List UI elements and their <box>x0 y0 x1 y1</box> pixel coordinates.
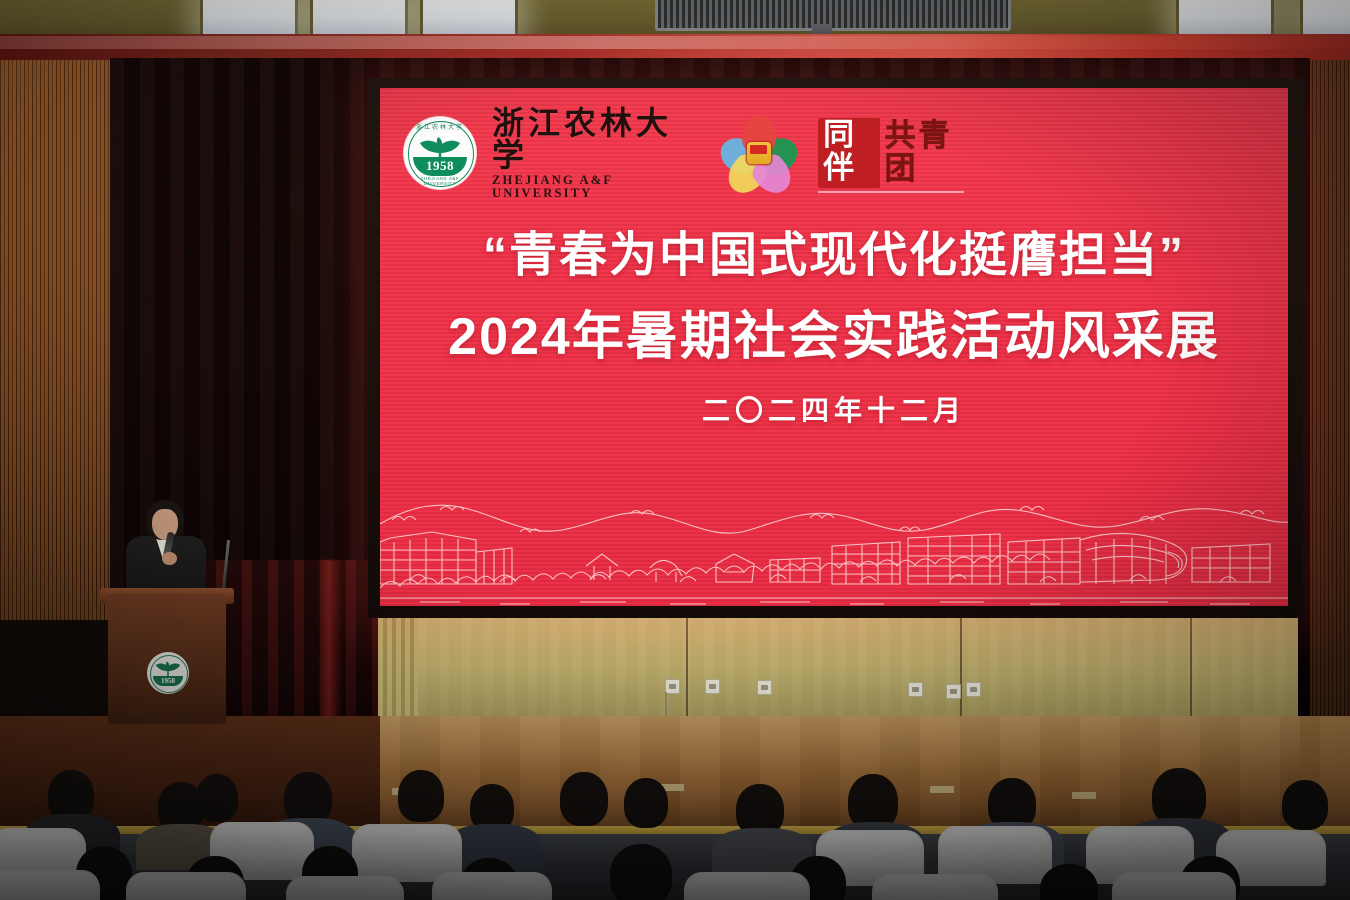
university-name-en: ZHEJIANG A&F UNIVERSITY <box>492 174 673 199</box>
audience-head <box>196 774 238 822</box>
youth-league-emblem-icon <box>747 142 771 164</box>
podium-university-seal-icon: 1958 <box>147 652 189 694</box>
audience-head <box>398 770 444 822</box>
audience-head <box>1282 780 1328 830</box>
headline-date: 二〇二四年十二月 <box>380 394 1288 428</box>
podium-seal-year: 1958 <box>147 677 189 685</box>
seat-cover <box>684 872 810 900</box>
ceiling-light <box>310 0 408 38</box>
curtain-fold-highlight <box>318 560 342 730</box>
headline-main: 2024年暑期社会实践活动风采展 <box>380 307 1288 368</box>
ceiling-light <box>1176 0 1274 38</box>
wall-outlet-icon <box>966 682 981 697</box>
partner-name-rest: 共青团 <box>880 120 964 185</box>
panel-seam <box>960 612 962 730</box>
wall-outlet-icon <box>705 679 720 694</box>
seat-cover <box>0 870 100 900</box>
wall-outlet-icon <box>908 682 923 697</box>
left-slatted-wall <box>0 60 120 620</box>
wall-outlet-icon <box>757 680 772 695</box>
back-wall-panels <box>418 612 1298 730</box>
partner-wordmark: 同伴 共青团 <box>818 118 964 187</box>
seat-cover <box>872 874 998 900</box>
partner-name-highlight: 同伴 <box>818 118 879 187</box>
seat-cover <box>1112 872 1236 900</box>
university-name-cn: 浙江农林大学 <box>492 107 673 171</box>
seal-top-chinese: 浙江农林大学 <box>404 122 476 131</box>
partner-flower-icon <box>722 116 796 190</box>
seal-bottom-english: ZHEJIANG A&F UNIVERSITY <box>404 176 476 186</box>
campus-skyline-illustration <box>380 480 1288 606</box>
valance-highlight <box>0 36 1350 49</box>
audience <box>0 760 1350 900</box>
ceiling-light <box>1300 0 1350 38</box>
university-seal-icon: 浙江农林大学 1958 ZHEJIANG A&F UNIVERSITY <box>404 117 476 189</box>
panel-seam <box>686 612 688 730</box>
panel-seam <box>1190 612 1192 730</box>
audience-head <box>624 778 668 828</box>
ceiling-vent-grille <box>655 0 1011 31</box>
ceiling-light <box>200 0 298 38</box>
ceiling-light <box>420 0 518 38</box>
speaker-person <box>118 500 214 600</box>
seat-cover <box>432 872 552 900</box>
audience-head <box>610 844 672 900</box>
university-name-block: 浙江农林大学 ZHEJIANG A&F UNIVERSITY <box>492 107 673 199</box>
screen-headline-block: “青春为中国式现代化挺膺担当” 2024年暑期社会实践活动风采展 二〇二四年十二… <box>380 228 1288 428</box>
wall-outlet-icon <box>946 684 961 699</box>
seat-cover <box>286 876 404 900</box>
seat-cover <box>126 872 246 900</box>
headline-quote: “青春为中国式现代化挺膺担当” <box>380 228 1288 285</box>
screen-branding-row: 浙江农林大学 1958 ZHEJIANG A&F UNIVERSITY 浙江农林… <box>404 112 964 194</box>
partner-underline <box>818 191 964 193</box>
led-screen: 浙江农林大学 1958 ZHEJIANG A&F UNIVERSITY 浙江农林… <box>380 88 1288 606</box>
wood-slat-curtain <box>378 618 418 730</box>
auditorium-scene: 浙江农林大学 1958 ZHEJIANG A&F UNIVERSITY 浙江农林… <box>0 0 1350 900</box>
speaker-hand <box>162 552 177 565</box>
audience-head <box>560 772 608 826</box>
seal-year: 1958 <box>404 158 476 174</box>
